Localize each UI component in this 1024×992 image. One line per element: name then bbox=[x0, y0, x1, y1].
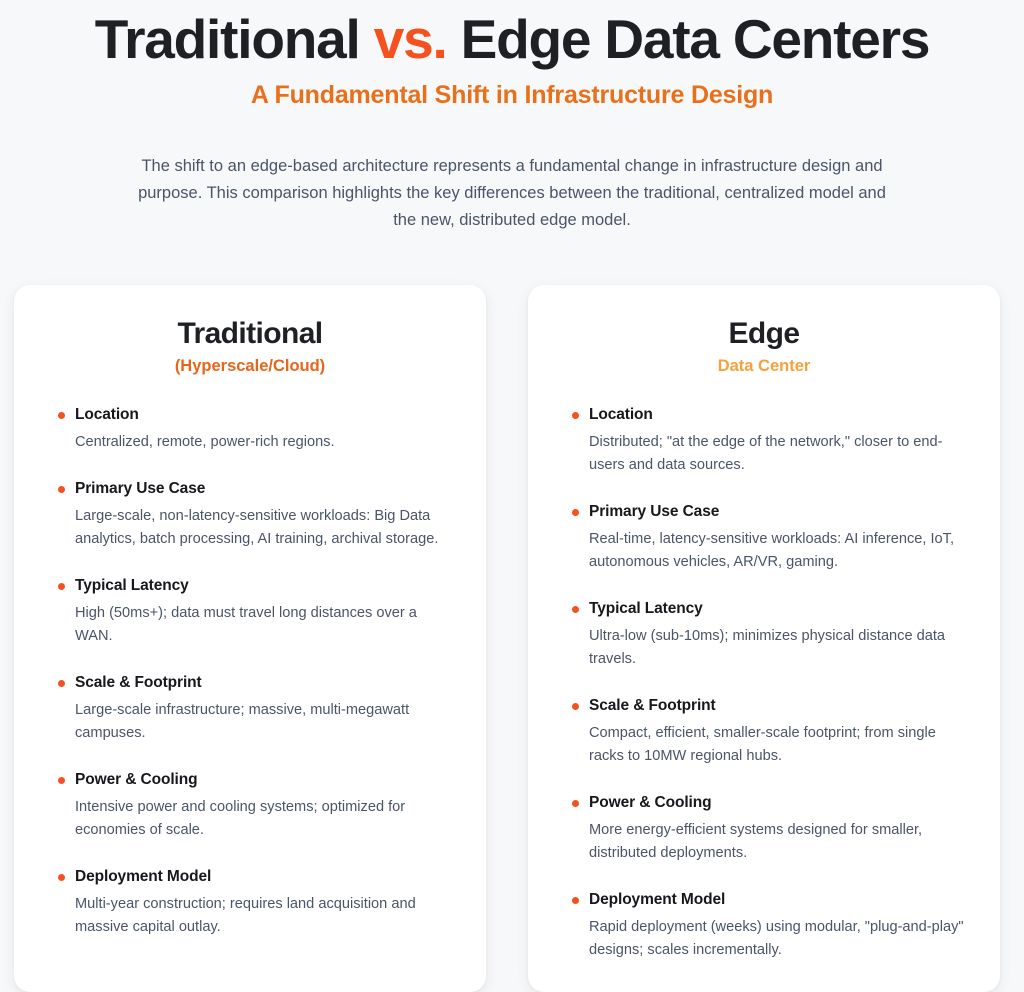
page-subtitle: A Fundamental Shift in Infrastructure De… bbox=[0, 79, 1024, 111]
feature-label: Primary Use Case bbox=[589, 502, 972, 522]
feature-description: Rapid deployment (weeks) using modular, … bbox=[589, 916, 972, 962]
card-traditional-feature-list: Location Centralized, remote, power-rich… bbox=[42, 405, 458, 939]
feature-label: Deployment Model bbox=[75, 867, 458, 887]
card-traditional-title: Traditional bbox=[42, 315, 458, 353]
feature-description: Compact, efficient, smaller-scale footpr… bbox=[589, 722, 972, 768]
bullet-dot-icon bbox=[572, 703, 579, 710]
list-item: Location Centralized, remote, power-rich… bbox=[58, 405, 458, 454]
card-traditional-subtitle: (Hyperscale/Cloud) bbox=[42, 355, 458, 377]
feature-description: Ultra-low (sub-10ms); minimizes physical… bbox=[589, 625, 972, 671]
bullet-dot-icon bbox=[58, 486, 65, 493]
bullet-dot-icon bbox=[572, 606, 579, 613]
feature-label: Location bbox=[589, 405, 972, 425]
feature-description: Large-scale infrastructure; massive, mul… bbox=[75, 699, 458, 745]
feature-description: More energy-efficient systems designed f… bbox=[589, 819, 972, 865]
card-edge-header: Edge Data Center bbox=[556, 315, 972, 377]
comparison-cards: Traditional (Hyperscale/Cloud) Location … bbox=[14, 285, 1010, 992]
page-title-vs: vs. bbox=[374, 8, 447, 70]
card-edge-subtitle: Data Center bbox=[556, 355, 972, 377]
list-item: Power & Cooling Intensive power and cool… bbox=[58, 770, 458, 842]
bullet-dot-icon bbox=[572, 412, 579, 419]
page-header: Traditional vs. Edge Data Centers A Fund… bbox=[0, 0, 1024, 111]
list-item: Typical Latency Ultra-low (sub-10ms); mi… bbox=[572, 599, 972, 671]
bullet-dot-icon bbox=[58, 680, 65, 687]
bullet-dot-icon bbox=[572, 509, 579, 516]
feature-label: Typical Latency bbox=[589, 599, 972, 619]
feature-description: Multi-year construction; requires land a… bbox=[75, 893, 458, 939]
feature-description: Distributed; "at the edge of the network… bbox=[589, 431, 972, 477]
feature-label: Location bbox=[75, 405, 458, 425]
feature-label: Scale & Footprint bbox=[75, 673, 458, 693]
page-title: Traditional vs. Edge Data Centers bbox=[0, 8, 1024, 70]
card-traditional-header: Traditional (Hyperscale/Cloud) bbox=[42, 315, 458, 377]
feature-description: Large-scale, non-latency-sensitive workl… bbox=[75, 505, 458, 551]
feature-label: Typical Latency bbox=[75, 576, 458, 596]
list-item: Deployment Model Multi-year construction… bbox=[58, 867, 458, 939]
card-edge-title: Edge bbox=[556, 315, 972, 353]
list-item: Typical Latency High (50ms+); data must … bbox=[58, 576, 458, 648]
list-item: Scale & Footprint Compact, efficient, sm… bbox=[572, 696, 972, 768]
feature-label: Deployment Model bbox=[589, 890, 972, 910]
feature-label: Power & Cooling bbox=[589, 793, 972, 813]
page-title-part-two: Edge Data Centers bbox=[447, 8, 930, 70]
feature-description: Real-time, latency-sensitive workloads: … bbox=[589, 528, 972, 574]
list-item: Location Distributed; "at the edge of th… bbox=[572, 405, 972, 477]
bullet-dot-icon bbox=[58, 874, 65, 881]
page-title-part-one: Traditional bbox=[95, 8, 374, 70]
bullet-dot-icon bbox=[572, 800, 579, 807]
bullet-dot-icon bbox=[58, 412, 65, 419]
feature-label: Scale & Footprint bbox=[589, 696, 972, 716]
intro-paragraph: The shift to an edge-based architecture … bbox=[132, 153, 892, 234]
bullet-dot-icon bbox=[58, 777, 65, 784]
feature-description: Centralized, remote, power-rich regions. bbox=[75, 431, 458, 454]
card-traditional: Traditional (Hyperscale/Cloud) Location … bbox=[14, 285, 486, 992]
card-edge-feature-list: Location Distributed; "at the edge of th… bbox=[556, 405, 972, 962]
comparison-page: Traditional vs. Edge Data Centers A Fund… bbox=[0, 0, 1024, 964]
list-item: Deployment Model Rapid deployment (weeks… bbox=[572, 890, 972, 962]
bullet-dot-icon bbox=[58, 583, 65, 590]
bullet-dot-icon bbox=[572, 897, 579, 904]
list-item: Primary Use Case Real-time, latency-sens… bbox=[572, 502, 972, 574]
feature-description: High (50ms+); data must travel long dist… bbox=[75, 602, 458, 648]
list-item: Primary Use Case Large-scale, non-latenc… bbox=[58, 479, 458, 551]
feature-label: Power & Cooling bbox=[75, 770, 458, 790]
list-item: Power & Cooling More energy-efficient sy… bbox=[572, 793, 972, 865]
list-item: Scale & Footprint Large-scale infrastruc… bbox=[58, 673, 458, 745]
feature-label: Primary Use Case bbox=[75, 479, 458, 499]
card-edge: Edge Data Center Location Distributed; "… bbox=[528, 285, 1000, 992]
feature-description: Intensive power and cooling systems; opt… bbox=[75, 796, 458, 842]
